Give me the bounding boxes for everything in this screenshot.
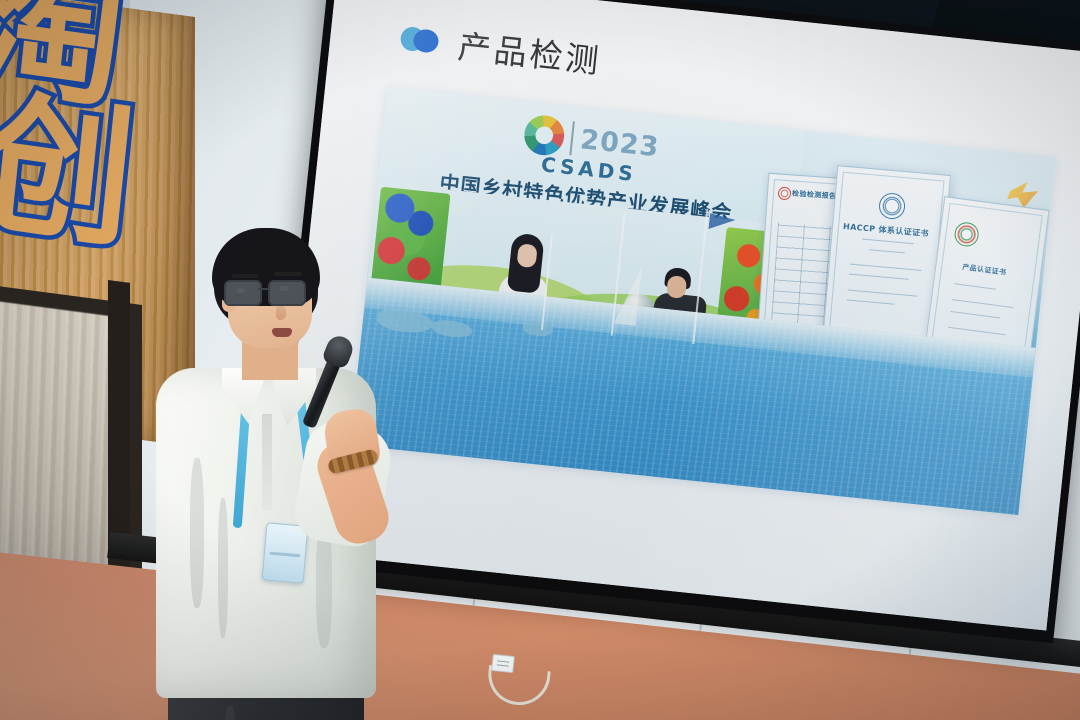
name-badge xyxy=(262,522,309,583)
presenter-eyebrow xyxy=(274,272,302,276)
two-overlapping-circles-icon xyxy=(399,25,441,55)
eyeglasses-icon xyxy=(224,280,316,304)
presenter xyxy=(150,228,450,720)
presenter-mouth xyxy=(272,328,292,337)
slide-photo: 2023 CSADS 中国乡村特色优势产业发展峰会 China Speciali… xyxy=(350,87,1056,515)
shirt-placket xyxy=(262,414,272,510)
presenter-nose xyxy=(276,306,286,320)
slide-caption: 经食品安全检测，本项目产出紫菜各项指标均已达标且达到预期效果，产出质量与产量均有… xyxy=(423,514,1056,515)
screenshot-root: 淘 创 产品检测 xyxy=(0,0,1080,720)
wall-signage-glyph: 创 xyxy=(0,73,143,270)
divider xyxy=(570,121,576,155)
slide-title: 产品检测 xyxy=(456,20,604,83)
slide-header: 产品检测 xyxy=(398,14,604,83)
presenter-eyebrow xyxy=(232,274,258,278)
wall-signage-character-2: 创 xyxy=(0,94,140,251)
